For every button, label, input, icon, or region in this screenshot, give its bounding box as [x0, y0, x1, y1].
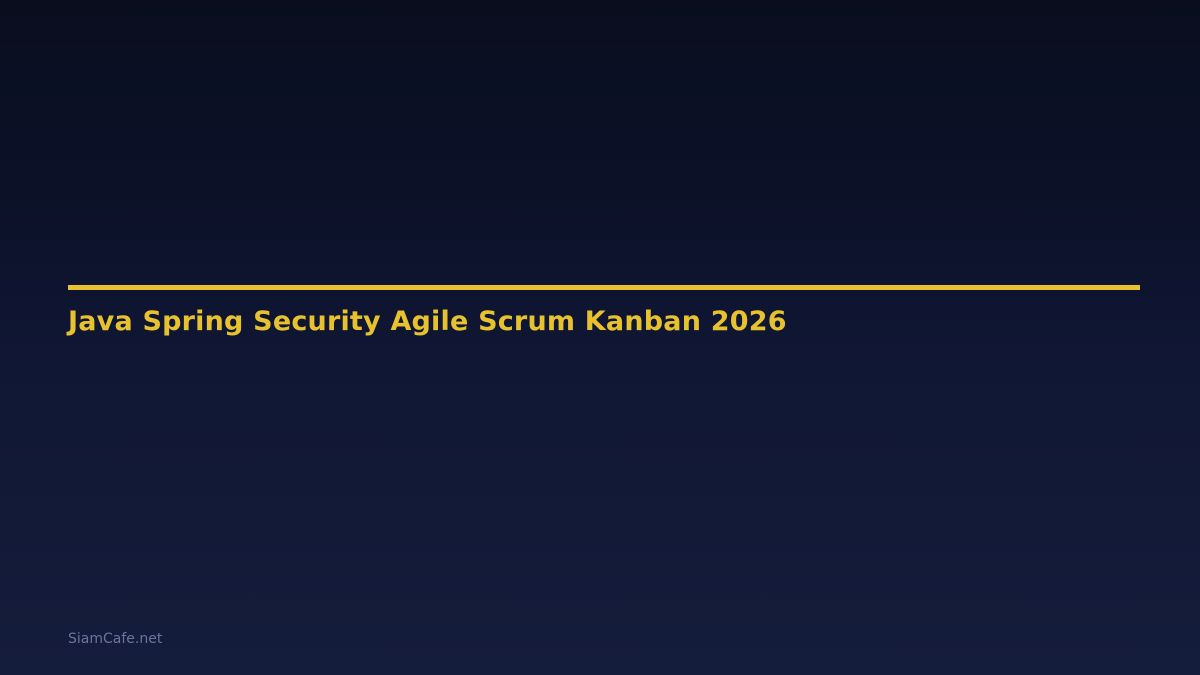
page-title: Java Spring Security Agile Scrum Kanban …: [68, 306, 1140, 338]
footer: SiamCafe.net: [68, 630, 162, 648]
title-block: Java Spring Security Agile Scrum Kanban …: [68, 306, 1140, 338]
title-accent-bar: [68, 285, 1140, 290]
title-slide: Java Spring Security Agile Scrum Kanban …: [0, 0, 1200, 675]
footer-source-label: SiamCafe.net: [68, 630, 162, 648]
